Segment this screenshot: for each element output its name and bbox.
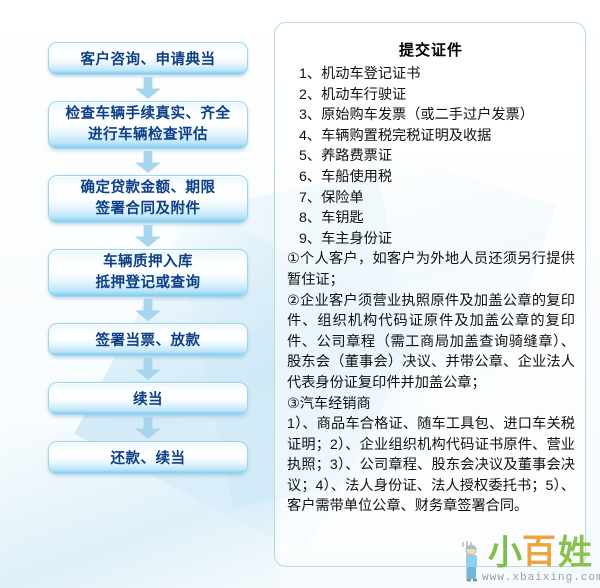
flow-step-3-line-1: 确定贷款金额、期限 xyxy=(81,178,216,199)
flow-step-5-line-1: 签署当票、放款 xyxy=(96,329,201,350)
document-item: 3、原始购车发票（或二手过户发票） xyxy=(287,105,575,126)
flow-connector-1 xyxy=(48,75,248,101)
panel-content: 1、机动车登记证书 2、机动车行驶证 3、原始购车发票（或二手过户发票） 4、车… xyxy=(287,64,575,517)
flow-connector-4 xyxy=(48,297,248,323)
document-item: 5、养路费票证 xyxy=(287,146,575,167)
panel-title: 提交证件 xyxy=(287,39,575,60)
flow-step-7[interactable]: 还款、续当 xyxy=(48,441,248,474)
flow-step-1[interactable]: 客户咨询、申请典当 xyxy=(48,42,248,75)
document-item: 6、车船使用税 xyxy=(287,167,575,188)
arrow-down-icon xyxy=(135,358,161,380)
document-note-enterprise: ②企业客户须营业执照原件及加盖公章的复印件、组织机构代码证原件及加盖公章的复印件… xyxy=(287,291,575,394)
arrow-down-icon xyxy=(135,77,161,99)
arrow-down-icon xyxy=(135,299,161,321)
flow-step-4-line-1: 车辆质押入库 xyxy=(103,252,193,273)
flow-step-7-line-1: 还款、续当 xyxy=(111,447,186,468)
document-item: 2、机动车行驶证 xyxy=(287,85,575,106)
flow-step-1-line-1: 客户咨询、申请典当 xyxy=(81,48,216,69)
flow-step-6[interactable]: 续当 xyxy=(48,382,248,415)
flow-step-4[interactable]: 车辆质押入库 抵押登记或查询 xyxy=(48,249,248,297)
watermark-url: www.xbaixing.com xyxy=(482,572,600,584)
arrow-down-icon xyxy=(135,417,161,439)
document-note-dealer-detail: 1）、商品车合格证、随车工具包、进口车关税证明；2）、企业组织机构代码证书原件、… xyxy=(287,414,575,517)
flowchart-page: 客户咨询、申请典当 检查车辆手续真实、齐全 进行车辆检查评估 确定贷款金额、期限… xyxy=(0,0,600,588)
document-note-dealer-title: ③汽车经销商 xyxy=(287,394,575,415)
flow-connector-5 xyxy=(48,356,248,382)
process-flowchart: 客户咨询、申请典当 检查车辆手续真实、齐全 进行车辆检查评估 确定贷款金额、期限… xyxy=(48,42,248,474)
flow-connector-3 xyxy=(48,223,248,249)
flow-step-3[interactable]: 确定贷款金额、期限 签署合同及附件 xyxy=(48,175,248,223)
required-documents-panel: 提交证件 1、机动车登记证书 2、机动车行驶证 3、原始购车发票（或二手过户发票… xyxy=(274,22,586,567)
flow-step-3-line-2: 签署合同及附件 xyxy=(96,199,201,220)
flow-connector-to-panel xyxy=(250,143,276,163)
flow-step-4-line-2: 抵押登记或查询 xyxy=(96,273,201,294)
arrow-down-icon xyxy=(135,225,161,247)
flow-step-6-line-1: 续当 xyxy=(133,388,163,409)
flow-connector-6 xyxy=(48,415,248,441)
arrow-down-icon xyxy=(135,151,161,173)
document-item: 4、车辆购置税完税证明及收据 xyxy=(287,126,575,147)
flow-step-2-line-2: 进行车辆检查评估 xyxy=(88,125,208,146)
flow-step-5[interactable]: 签署当票、放款 xyxy=(48,323,248,356)
document-item: 9、车主身份证 xyxy=(287,229,575,250)
document-item: 7、保险单 xyxy=(287,188,575,209)
flow-step-2[interactable]: 检查车辆手续真实、齐全 进行车辆检查评估 xyxy=(48,101,248,149)
flow-connector-2 xyxy=(48,149,248,175)
document-item: 8、车钥匙 xyxy=(287,208,575,229)
flow-step-2-line-1: 检查车辆手续真实、齐全 xyxy=(66,104,231,125)
document-item: 1、机动车登记证书 xyxy=(287,64,575,85)
document-note-individual: ①个人客户，如客户为外地人员还须另行提供暂住证； xyxy=(287,249,575,290)
